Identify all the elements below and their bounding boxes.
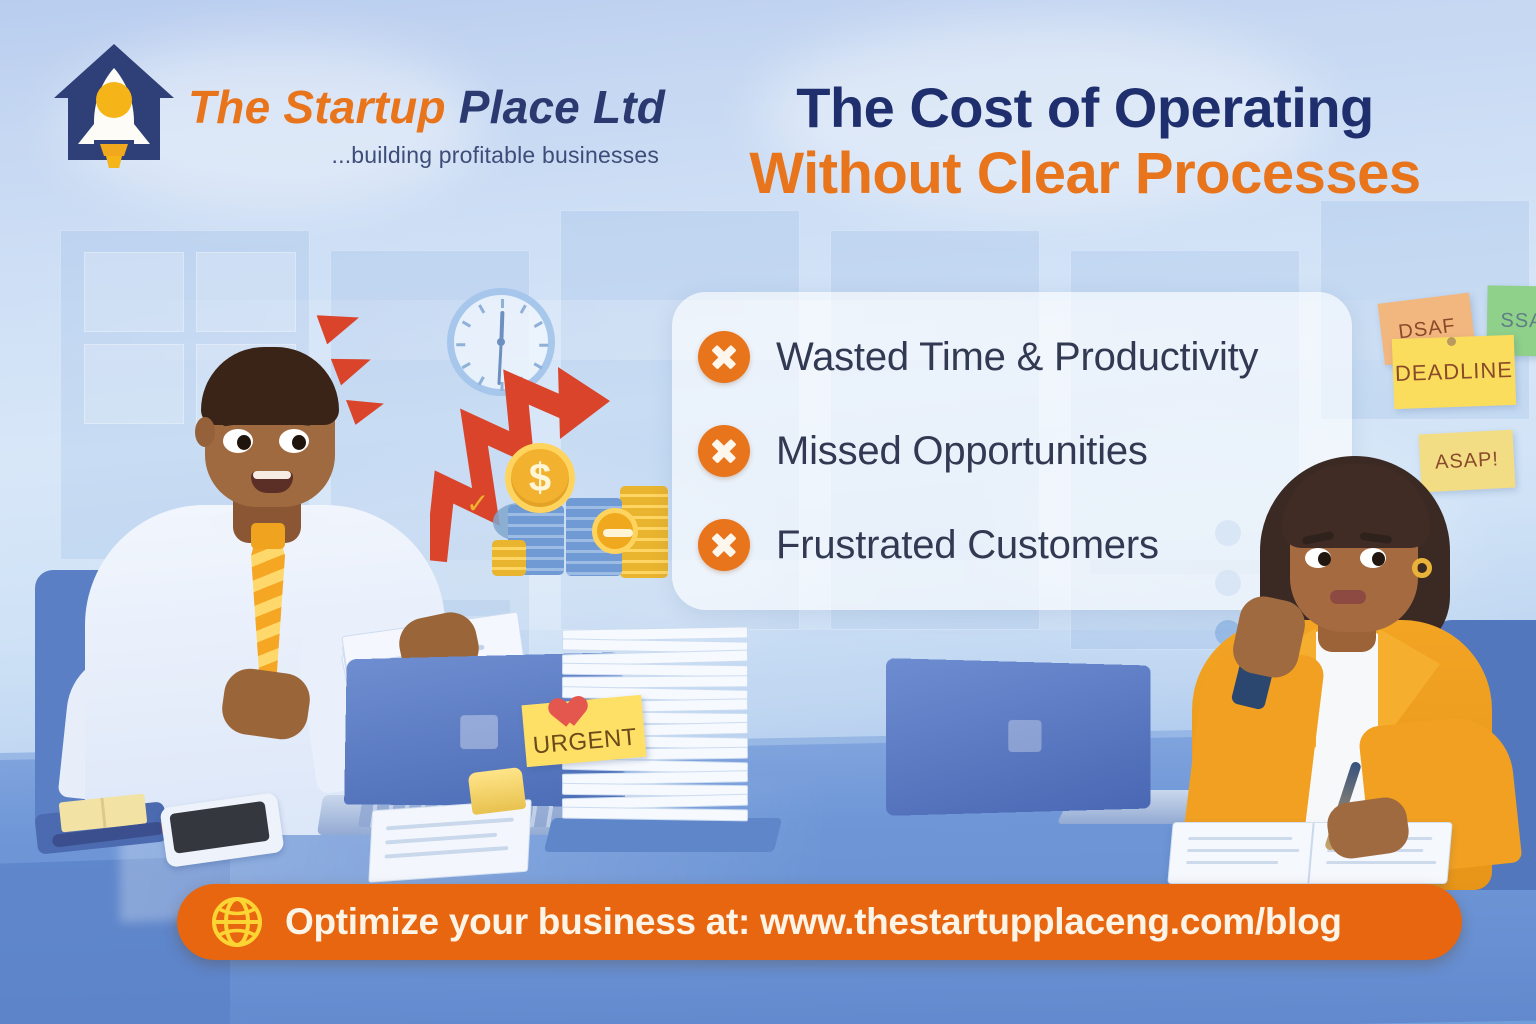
list-item[interactable]: Wasted Time & Productivity <box>698 331 1326 383</box>
earring-icon <box>1412 558 1432 578</box>
brand-name-part2: Place Ltd <box>459 81 665 133</box>
sticky-note-text: SSA <box>1500 309 1536 333</box>
cost-item-label: Wasted Time & Productivity <box>776 335 1258 380</box>
infographic-canvas: The Startup Place Ltd ...building profit… <box>0 0 1536 1024</box>
sticky-note-deadline: DEADLINE <box>1392 335 1516 409</box>
x-circle-icon <box>698 331 750 383</box>
house-rocket-icon <box>48 40 180 168</box>
cta-text: Optimize your business at: www.thestartu… <box>285 901 1342 943</box>
page-title: The Cost of Operating Without Clear Proc… <box>690 78 1480 205</box>
sticky-note-text: DEADLINE <box>1395 357 1514 387</box>
brand-tagline: ...building profitable businesses <box>188 142 665 169</box>
heart-icon <box>538 684 577 720</box>
globe-icon <box>211 896 263 948</box>
x-circle-icon <box>698 425 750 477</box>
x-circle-icon <box>698 519 750 571</box>
open-notebook <box>1167 822 1452 884</box>
brand-logo-block: The Startup Place Ltd ...building profit… <box>48 40 665 169</box>
cost-item-label: Frustrated Customers <box>776 523 1159 568</box>
brand-name-part1: The Startup <box>188 81 446 133</box>
urgent-note-text: URGENT <box>532 723 638 760</box>
cta-banner[interactable]: Optimize your business at: www.thestartu… <box>177 884 1462 960</box>
cost-item-label: Missed Opportunities <box>776 429 1148 474</box>
headline-line-2: Without Clear Processes <box>690 143 1480 204</box>
pushpin-icon <box>1447 337 1456 346</box>
headline-line-1: The Cost of Operating <box>690 78 1480 137</box>
frustrated-businesswoman-illustration <box>1150 430 1536 880</box>
notepad <box>368 799 531 883</box>
tape-dispenser <box>468 767 527 815</box>
